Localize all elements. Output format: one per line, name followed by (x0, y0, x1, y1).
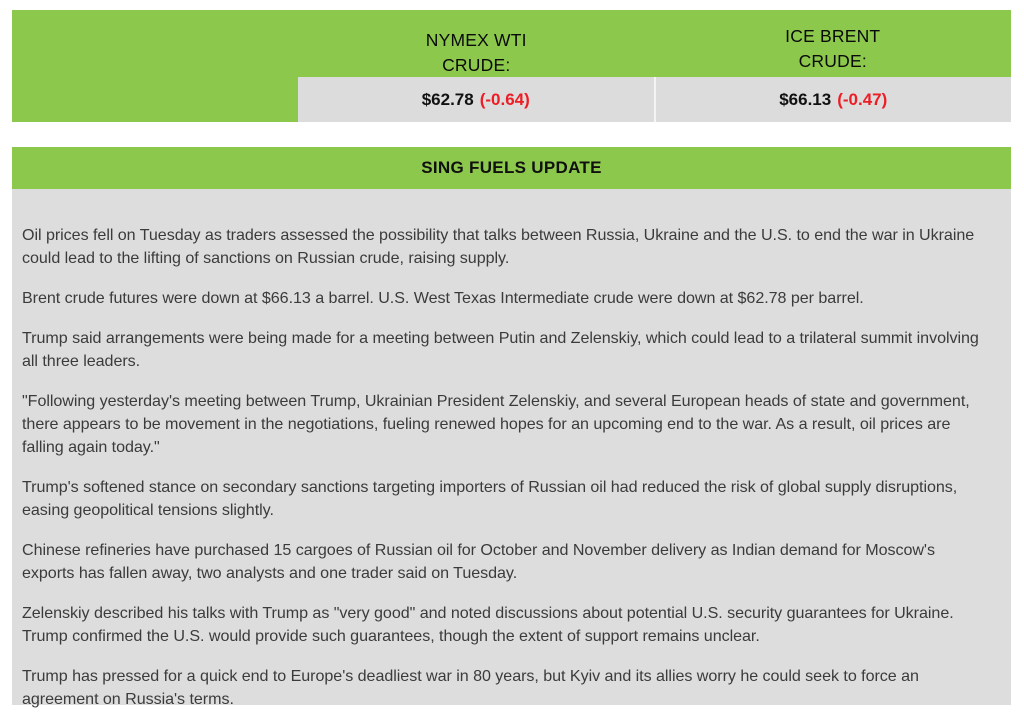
price-value-nymex-wti-crude: $62.78 (-0.64) (298, 77, 654, 122)
price-title-line1: NYMEX WTI (426, 28, 527, 53)
price-change: (-0.64) (480, 90, 530, 110)
price-values-row: $62.78 (-0.64) $66.13 (-0.47) (12, 77, 1011, 122)
price-amount: $62.78 (422, 90, 474, 110)
price-value-spacer (12, 77, 298, 122)
article-paragraph: Trump's softened stance on secondary san… (22, 476, 989, 522)
sing-fuels-update-banner: SING FUELS UPDATE (12, 147, 1011, 189)
price-amount: $66.13 (779, 90, 831, 110)
article-paragraph: Brent crude futures were down at $66.13 … (22, 287, 989, 310)
price-titles-row: NYMEX WTI CRUDE: ICE BRENT CRUDE: (12, 10, 1011, 77)
article-paragraph: "Following yesterday's meeting between T… (22, 390, 989, 459)
banner-title: SING FUELS UPDATE (421, 158, 601, 178)
price-value-ice-brent-crude: $66.13 (-0.47) (654, 77, 1012, 122)
price-title-nymex-wti-crude: NYMEX WTI CRUDE: (298, 10, 655, 77)
price-header-block: NYMEX WTI CRUDE: ICE BRENT CRUDE: $62.78… (12, 10, 1011, 122)
article-paragraph: Trump said arrangements were being made … (22, 327, 989, 373)
article-paragraph: Oil prices fell on Tuesday as traders as… (22, 224, 989, 270)
price-change: (-0.47) (837, 90, 887, 110)
article-paragraph: Chinese refineries have purchased 15 car… (22, 539, 989, 585)
price-title-spacer (12, 10, 298, 77)
newsletter-page: NYMEX WTI CRUDE: ICE BRENT CRUDE: $62.78… (0, 0, 1024, 713)
price-title-line2: CRUDE: (442, 53, 510, 78)
price-title-line2: CRUDE: (799, 49, 867, 74)
article-body: Oil prices fell on Tuesday as traders as… (12, 189, 1011, 705)
price-title-ice-brent-crude: ICE BRENT CRUDE: (655, 10, 1012, 77)
article-paragraph: Zelenskiy described his talks with Trump… (22, 602, 989, 648)
price-title-line1: ICE BRENT (785, 24, 880, 49)
article-paragraph: Trump has pressed for a quick end to Eur… (22, 665, 989, 711)
